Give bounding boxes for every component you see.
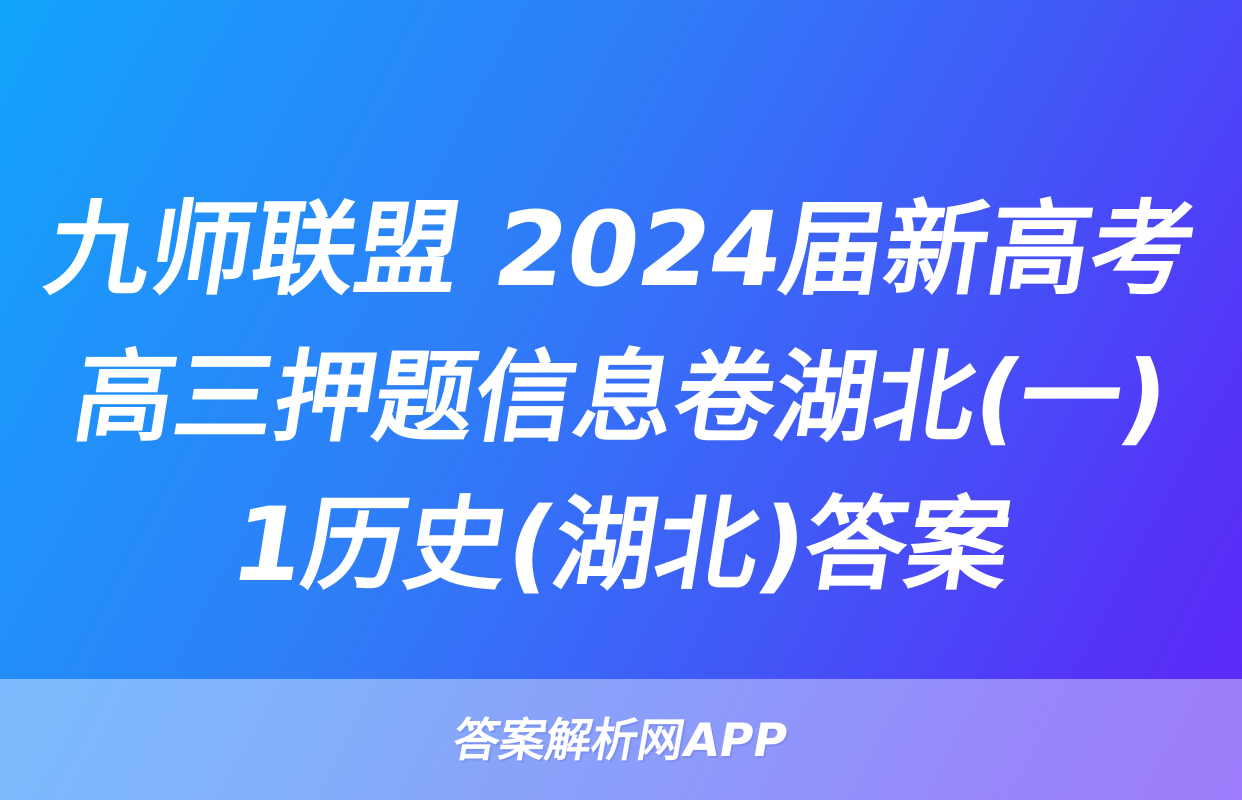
title-line-3: 1历史(湖北)答案: [0, 472, 1242, 620]
title-line-2: 高三押题信息卷湖北(一): [0, 324, 1242, 472]
footer-watermark-band: 答案解析网APP: [0, 679, 1242, 800]
banner-title-block: 九师联盟 2024届新高考 高三押题信息卷湖北(一) 1历史(湖北)答案: [0, 176, 1242, 646]
app-watermark-label: 答案解析网APP: [450, 715, 792, 765]
title-line-1: 九师联盟 2024届新高考: [0, 176, 1242, 324]
promo-banner: 九师联盟 2024届新高考 高三押题信息卷湖北(一) 1历史(湖北)答案 答案解…: [0, 0, 1242, 800]
